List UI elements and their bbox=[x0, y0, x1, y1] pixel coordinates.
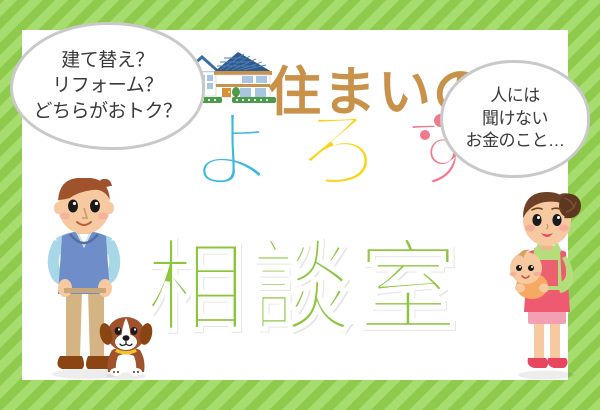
question-bubble-right: 人には 聞けない お金のこと… bbox=[440, 60, 590, 178]
woman-with-baby-illustration bbox=[498, 190, 590, 380]
title-char-yo: よ bbox=[190, 103, 296, 199]
poster-stage: 住まいの よろす 相談室 bbox=[0, 0, 600, 410]
title-char-ro: ろ bbox=[296, 103, 402, 199]
decorative-dot-2 bbox=[418, 128, 432, 142]
question-bubble-left: 建て替え？ リフォーム？ どちらがおトク？ bbox=[10, 22, 205, 150]
bubble-left-text: 建て替え？ リフォーム？ どちらがおトク？ bbox=[33, 48, 181, 123]
title-line-3: 相談室 bbox=[146, 238, 464, 338]
dog-illustration bbox=[96, 312, 158, 380]
bubble-right-text: 人には 聞けない お金のこと… bbox=[466, 85, 565, 152]
